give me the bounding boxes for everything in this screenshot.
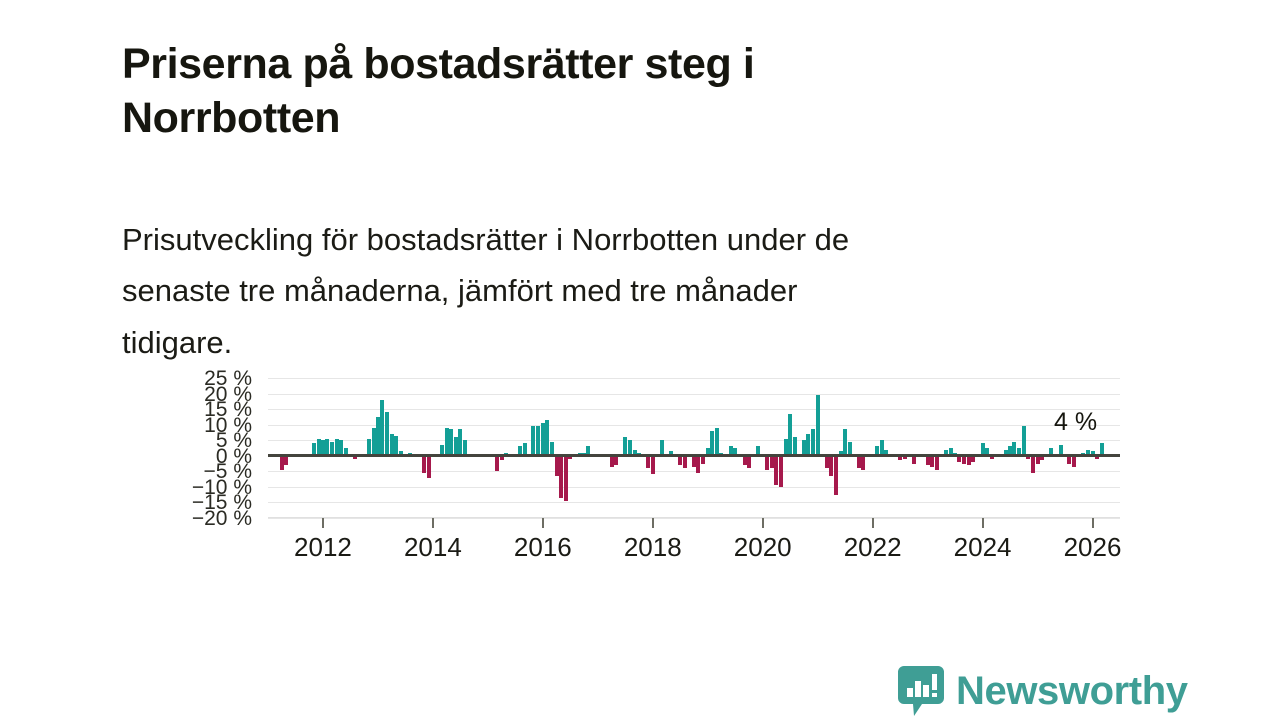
bar xyxy=(935,456,939,470)
bar xyxy=(385,412,389,456)
x-tick-label: 2022 xyxy=(844,532,902,562)
bar xyxy=(541,423,545,456)
bar xyxy=(372,428,376,456)
bar xyxy=(806,434,810,456)
x-tick-mark xyxy=(1092,518,1094,528)
bar xyxy=(793,437,797,456)
bar xyxy=(651,456,655,475)
bar xyxy=(458,429,462,455)
bar xyxy=(834,456,838,495)
bar xyxy=(422,456,426,473)
x-tick-label: 2014 xyxy=(404,532,462,562)
bar xyxy=(449,429,453,455)
bar xyxy=(696,456,700,473)
gridline xyxy=(268,394,1120,395)
bar xyxy=(1022,426,1026,456)
bar xyxy=(555,456,559,476)
page-title: Priserna på bostadsrätter steg i Norrbot… xyxy=(122,37,922,145)
bar xyxy=(559,456,563,498)
bar xyxy=(335,439,339,456)
bar xyxy=(788,414,792,456)
bar xyxy=(454,437,458,456)
bar xyxy=(930,456,934,467)
bar xyxy=(1031,456,1035,473)
gridline xyxy=(268,378,1120,379)
bar xyxy=(367,439,371,456)
bar xyxy=(427,456,431,478)
speech-bubble-bar-chart-icon xyxy=(898,666,944,716)
x-tick-label: 2020 xyxy=(734,532,792,562)
gridline xyxy=(268,487,1120,488)
bar xyxy=(280,456,284,470)
x-tick-label: 2026 xyxy=(1064,532,1122,562)
x-tick-label: 2024 xyxy=(954,532,1012,562)
bar xyxy=(495,456,499,472)
bar xyxy=(861,456,865,470)
bar xyxy=(376,417,380,456)
bar xyxy=(610,456,614,467)
bar xyxy=(325,439,329,456)
gridline xyxy=(268,425,1120,426)
x-tick-mark xyxy=(872,518,874,528)
x-tick-mark xyxy=(432,518,434,528)
plot-area xyxy=(268,378,1120,518)
bar xyxy=(825,456,829,468)
bar xyxy=(765,456,769,470)
bar xyxy=(715,428,719,456)
bar xyxy=(317,439,321,456)
zero-line xyxy=(268,454,1120,457)
x-tick-label: 2018 xyxy=(624,532,682,562)
bar xyxy=(646,456,650,468)
x-axis: 20122014201620182020202220242026 xyxy=(268,518,1120,578)
gridline xyxy=(268,409,1120,410)
bar xyxy=(770,456,774,468)
x-tick-label: 2012 xyxy=(294,532,352,562)
x-tick-mark xyxy=(982,518,984,528)
page-subtitle: Prisutveckling för bostadsrätter i Norrb… xyxy=(122,214,1097,368)
bar xyxy=(829,456,833,476)
bar xyxy=(811,429,815,455)
bar xyxy=(445,428,449,456)
bar xyxy=(390,434,394,456)
y-axis: 25 %20 %15 %10 %5 %0 %−5 %−10 %−15 %−20 … xyxy=(160,370,252,526)
gridline xyxy=(268,471,1120,472)
y-tick-label: −20 % xyxy=(160,508,252,529)
bar xyxy=(623,437,627,456)
bar xyxy=(774,456,778,486)
gridline xyxy=(268,502,1120,503)
x-tick-label: 2016 xyxy=(514,532,572,562)
bar xyxy=(843,429,847,455)
x-tick-mark xyxy=(762,518,764,528)
x-tick-mark xyxy=(542,518,544,528)
bar xyxy=(380,400,384,456)
bar xyxy=(1072,456,1076,467)
bar xyxy=(816,395,820,456)
x-tick-mark xyxy=(322,518,324,528)
bar xyxy=(857,456,861,468)
bar xyxy=(692,456,696,467)
bar xyxy=(784,439,788,456)
logo-wordmark: Newsworthy xyxy=(956,671,1188,711)
bar xyxy=(531,426,535,456)
bar xyxy=(710,431,714,456)
bar xyxy=(683,456,687,468)
bar xyxy=(394,436,398,456)
bar xyxy=(536,426,540,456)
bar xyxy=(564,456,568,501)
newsworthy-logo[interactable]: Newsworthy xyxy=(898,665,1188,717)
bar xyxy=(747,456,751,468)
x-tick-mark xyxy=(652,518,654,528)
bar xyxy=(545,420,549,456)
bar xyxy=(779,456,783,487)
last-value-annotation: 4 % xyxy=(1054,408,1097,437)
